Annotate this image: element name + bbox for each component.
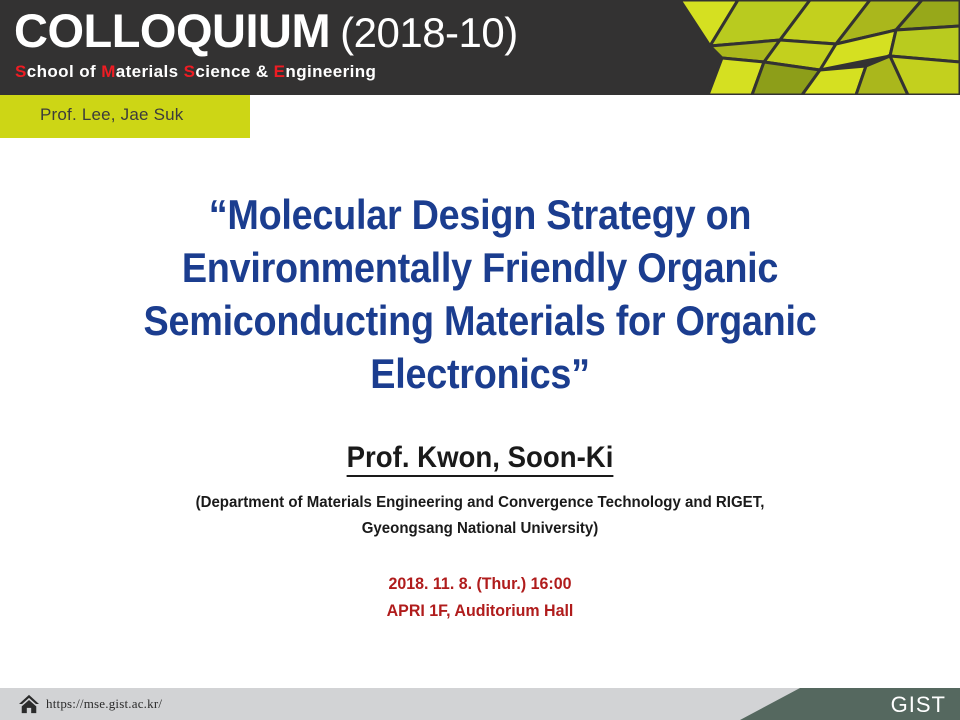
event-details: 2018. 11. 8. (Thur.) 16:00 APRI 1F, Audi… [85,570,875,624]
school-initial-e: E [274,62,286,81]
low-poly-decoration [660,0,960,95]
footer-bar: https://mse.gist.ac.kr/ GIST [0,688,960,720]
speaker-affiliation: (Department of Materials Engineering and… [85,490,875,542]
school-word-aterials: aterials [116,62,179,81]
site-url[interactable]: https://mse.gist.ac.kr/ [46,696,162,712]
talk-title-line-1: “Molecular Design Strategy on [102,188,858,241]
host-name-chip: Prof. Lee, Jae Suk [0,95,250,138]
affiliation-line-2: Gyeongsang National University) [85,516,875,542]
host-name-label: Prof. Lee, Jae Suk [40,105,183,125]
school-word-of: of [79,62,96,81]
school-word-ngineering: ngineering [285,62,376,81]
gist-logo: GIST [891,692,946,718]
talk-title: “Molecular Design Strategy on Environmen… [102,188,858,400]
school-word-chool: chool [27,62,74,81]
event-date: 2018. 11. 8. (Thur.) 16:00 [85,570,875,597]
school-subtitle: School of Materials Science & Engineerin… [15,62,376,82]
school-word-cience: cience [195,62,250,81]
speaker-name-text: Prof. Kwon, Soon-Ki [347,441,614,477]
school-initial-s: S [15,62,27,81]
school-ampersand: & [256,62,269,81]
school-initial-s2: S [184,62,196,81]
talk-title-line-4: Electronics” [102,347,858,400]
poster-body: “Molecular Design Strategy on Environmen… [0,138,960,688]
school-initial-m: M [101,62,116,81]
talk-title-line-2: Environmentally Friendly Organic [102,241,858,294]
home-icon[interactable] [18,694,40,714]
header-bar: COLLOQUIUM(2018-10) School of Materials … [0,0,960,95]
affiliation-line-1: (Department of Materials Engineering and… [85,490,875,516]
speaker-name: Prof. Kwon, Soon-Ki [94,441,867,475]
event-venue: APRI 1F, Auditorium Hall [85,597,875,624]
colloquium-wordmark: COLLOQUIUM [14,4,330,57]
talk-title-line-3: Semiconducting Materials for Organic [102,294,858,347]
issue-number: (2018-10) [340,9,518,56]
